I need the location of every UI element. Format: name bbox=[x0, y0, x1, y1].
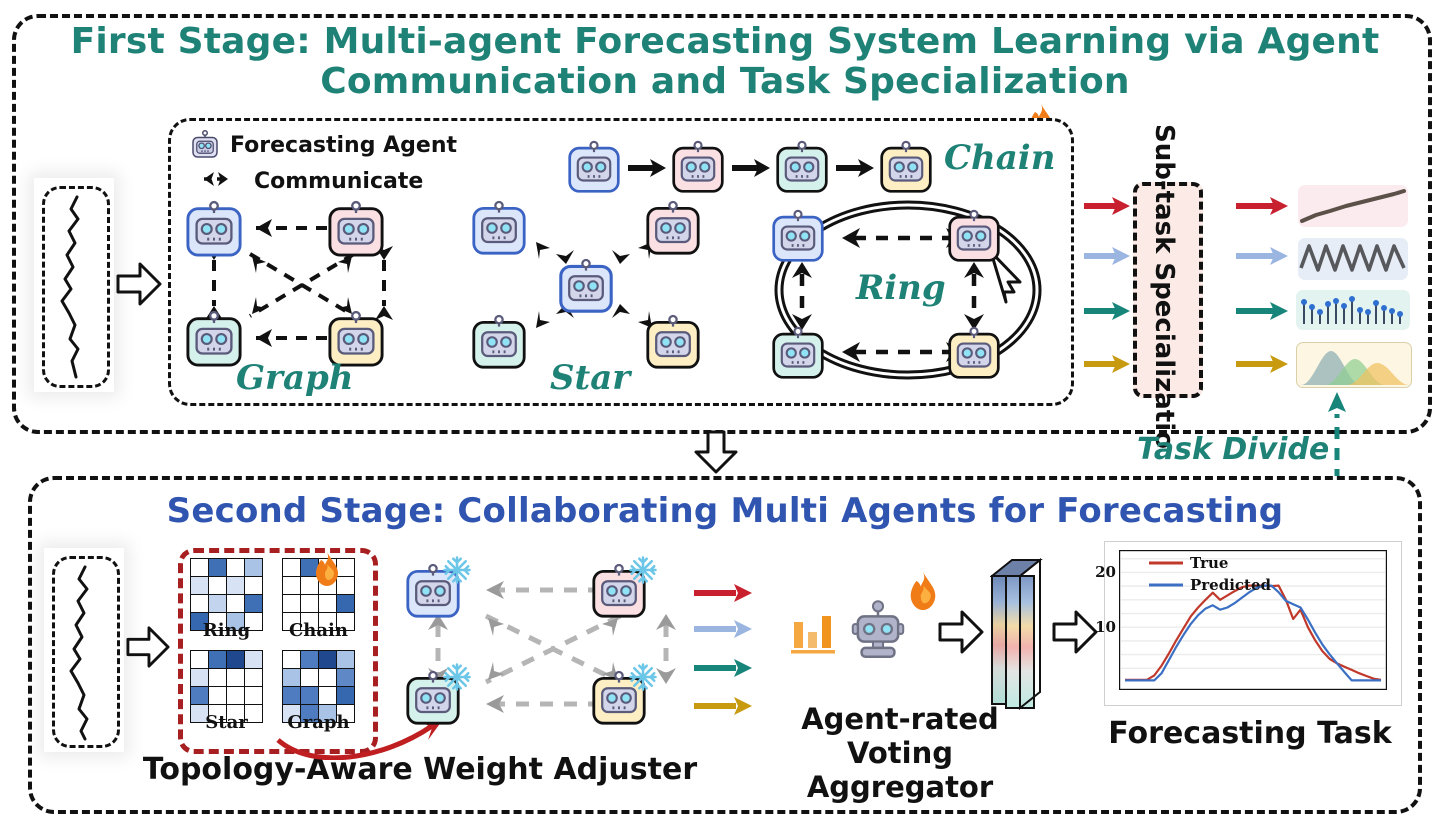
chart-legend: True Predicted bbox=[1149, 554, 1271, 594]
flame-icon bbox=[314, 552, 340, 586]
topology-label-graph: Graph bbox=[236, 358, 353, 398]
matrix-star: Star bbox=[190, 650, 263, 723]
legend-forecasting-agent: Forecasting Agent bbox=[190, 130, 457, 160]
stage-1-title: First Stage: Multi-agent Forecasting Sys… bbox=[60, 22, 1390, 103]
flow-arrow-1 bbox=[116, 260, 162, 308]
agent-chain-1 bbox=[566, 140, 622, 198]
table-row bbox=[283, 651, 355, 669]
subtask-in-arrow-1 bbox=[1082, 195, 1132, 217]
subtask-out-arrow-2 bbox=[1234, 245, 1290, 267]
agent-graph-2 bbox=[326, 200, 386, 262]
agent-star-1 bbox=[470, 200, 528, 260]
legend-agent-label: Forecasting Agent bbox=[230, 133, 457, 158]
chart-legend-true: True bbox=[1190, 554, 1228, 572]
stage2-arrow-3 bbox=[692, 657, 754, 679]
table-row bbox=[283, 595, 355, 613]
topology-label-chain: Chain bbox=[944, 138, 1055, 178]
flame-icon bbox=[908, 572, 938, 610]
snowflake-icon bbox=[442, 555, 472, 585]
robot-icon bbox=[190, 130, 220, 160]
table-row bbox=[191, 577, 263, 595]
trend-thumb bbox=[1298, 185, 1408, 227]
subtask-in-arrow-4 bbox=[1082, 353, 1132, 375]
stage-2-title: Second Stage: Collaborating Multi Agents… bbox=[60, 492, 1390, 530]
chart-legend-predicted: Predicted bbox=[1190, 576, 1271, 594]
agent-graph-1 bbox=[184, 200, 244, 262]
robot-icon bbox=[850, 600, 906, 662]
spikes-thumb bbox=[1296, 290, 1410, 330]
voting-aggregator-caption: Agent-rated Voting Aggregator bbox=[750, 702, 1050, 805]
chart-ytick-20: 20 bbox=[1095, 563, 1116, 581]
voting-out-arrow bbox=[938, 608, 984, 656]
legend-communicate-label: Communicate bbox=[254, 169, 423, 194]
bar-chart-icon bbox=[788, 608, 840, 660]
forecasting-task-caption: Forecasting Task bbox=[1090, 716, 1410, 751]
aggregated-representation-bar bbox=[990, 558, 1052, 714]
agent-ring-3 bbox=[770, 326, 826, 384]
sub-task-specialization-label-wrap: Sub-task Specializatio bbox=[1133, 182, 1195, 390]
snowflake-icon bbox=[628, 555, 658, 585]
seasonality-thumb bbox=[1298, 238, 1408, 280]
stage2-arrow-4 bbox=[692, 695, 754, 717]
legend-swatch-true bbox=[1149, 560, 1183, 566]
subtask-out-arrow-3 bbox=[1234, 300, 1290, 322]
agent-graph-3 bbox=[184, 310, 244, 372]
table-row bbox=[191, 669, 263, 687]
topology-label-star: Star bbox=[550, 358, 630, 398]
stage2-arrow-2 bbox=[692, 618, 754, 640]
chart-ytick-10: 10 bbox=[1095, 618, 1116, 636]
legend-swatch-predicted bbox=[1149, 582, 1183, 588]
matrix-label-chain: Chain bbox=[282, 620, 355, 641]
matrix-ring: Ring bbox=[190, 558, 263, 631]
agent-star-4 bbox=[644, 314, 702, 374]
snowflake-icon bbox=[628, 662, 658, 692]
agent-ring-1 bbox=[770, 209, 826, 267]
agent-star-2 bbox=[644, 200, 702, 260]
subtask-in-arrow-2 bbox=[1082, 245, 1132, 267]
table-row bbox=[191, 687, 263, 705]
table-row bbox=[191, 595, 263, 613]
task-divide-label: Task Divide bbox=[1137, 432, 1329, 467]
agent-ring-4 bbox=[946, 326, 1002, 384]
input-time-series-2 bbox=[52, 556, 120, 748]
agent-ring-2 bbox=[946, 209, 1002, 267]
agent-star-center bbox=[557, 258, 615, 318]
agent-star-3 bbox=[470, 314, 528, 374]
stage2-arrow-1 bbox=[692, 582, 754, 604]
agent-chain-2 bbox=[670, 140, 726, 198]
input-time-series-1 bbox=[42, 186, 110, 388]
stage-transition-arrow bbox=[692, 430, 740, 474]
final-forecast-arrow bbox=[1052, 608, 1098, 656]
subtask-in-arrow-3 bbox=[1082, 300, 1132, 322]
distribution-thumb bbox=[1296, 342, 1412, 388]
matrix-label-ring: Ring bbox=[190, 620, 263, 641]
snowflake-icon bbox=[442, 662, 472, 692]
matrix-label-star: Star bbox=[190, 712, 263, 733]
table-row bbox=[283, 669, 355, 687]
sub-task-specialization-label: Sub-task Specializatio bbox=[1149, 124, 1179, 449]
topology-label-ring: Ring bbox=[856, 268, 946, 308]
flow-arrow-2 bbox=[126, 624, 170, 670]
dashed-double-arrow-icon bbox=[188, 168, 244, 194]
table-row bbox=[191, 559, 263, 577]
subtask-out-arrow-4 bbox=[1234, 353, 1290, 375]
table-row bbox=[191, 651, 263, 669]
subtask-out-arrow-1 bbox=[1234, 195, 1290, 217]
forecast-chart: 20 10 True Predicted bbox=[1104, 541, 1402, 706]
legend-communicate: Communicate bbox=[188, 168, 423, 194]
